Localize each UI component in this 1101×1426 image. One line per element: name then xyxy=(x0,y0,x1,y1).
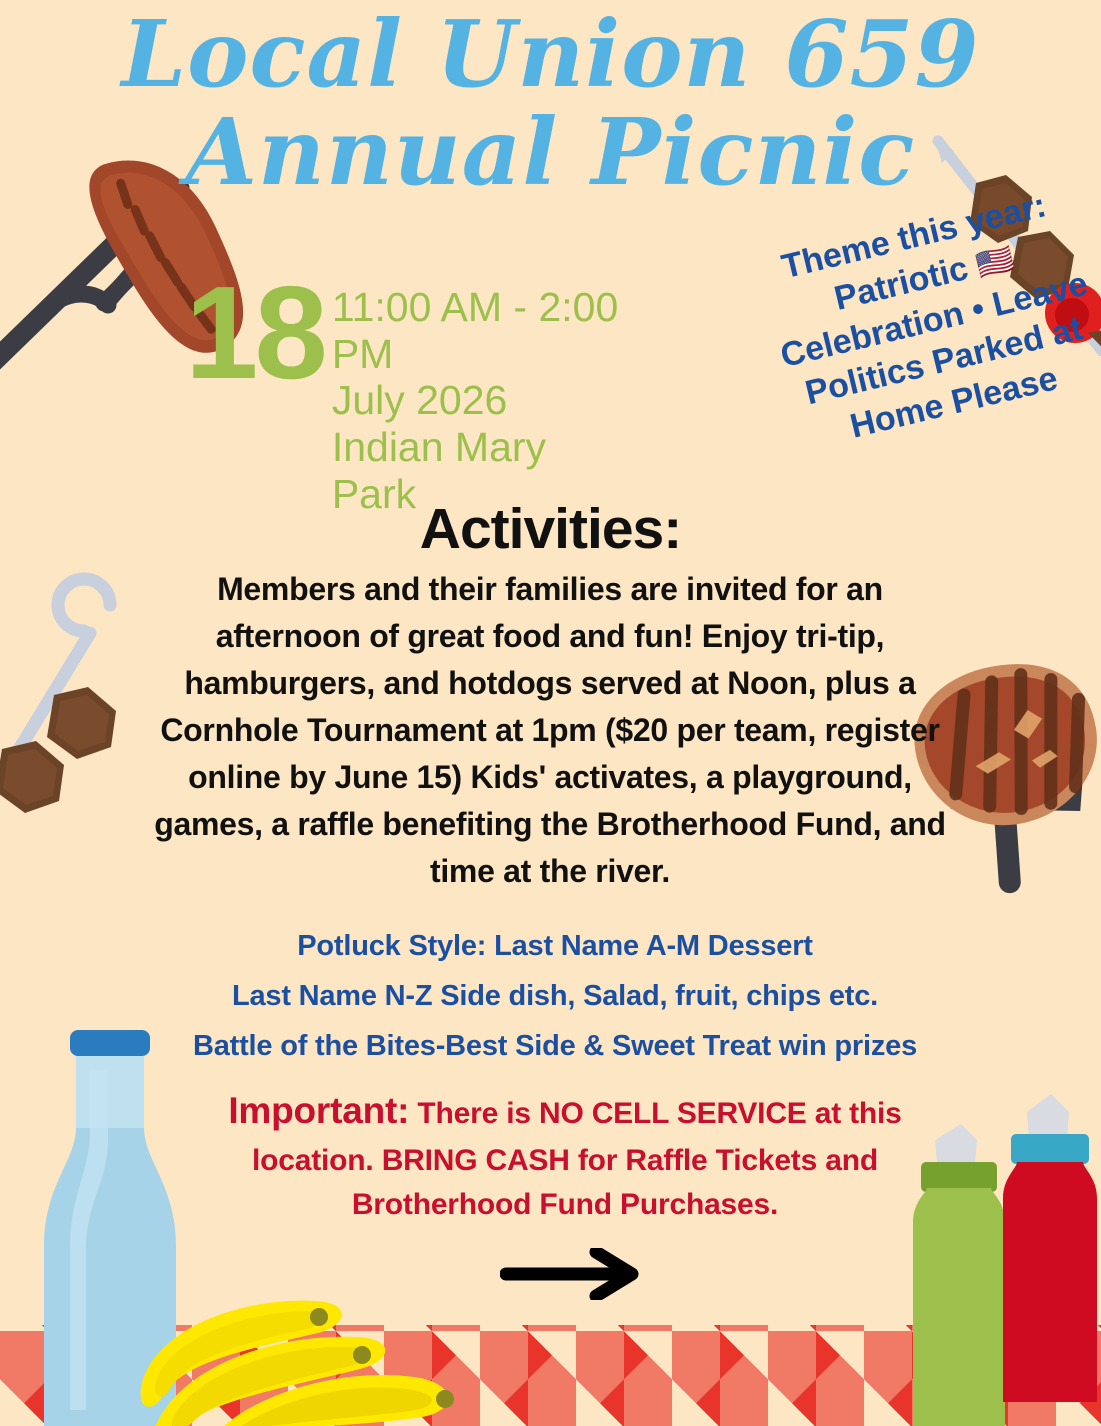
event-details: 11:00 AM - 2:00 PM July 2026 Indian Mary… xyxy=(332,278,622,518)
flyer-title: Local Union 659 Annual Picnic xyxy=(0,8,1101,198)
bunch-of-bananas-icon xyxy=(120,1295,480,1426)
important-notice: Important: There is NO CELL SERVICE at t… xyxy=(170,1084,960,1228)
theme-callout: Theme this year: Patriotic 🇺🇸 Celebratio… xyxy=(700,166,1101,475)
important-label: Important: xyxy=(228,1090,409,1131)
right-arrow-icon xyxy=(500,1248,650,1300)
potluck-instructions: Potluck Style: Last Name A-M Dessert Las… xyxy=(110,922,1000,1072)
red-ketchup-squeeze-bottle-icon xyxy=(995,1092,1101,1426)
title-line-2: Annual Picnic xyxy=(0,106,1101,198)
event-day-number: 18 xyxy=(185,278,324,389)
title-line-1: Local Union 659 xyxy=(121,0,979,108)
potluck-line-3: Battle of the Bites-Best Side & Sweet Tr… xyxy=(110,1022,1000,1072)
potluck-line-1: Potluck Style: Last Name A-M Dessert xyxy=(110,922,1000,972)
activities-body-text: Members and their families are invited f… xyxy=(150,566,950,895)
right-arrow-wrapper xyxy=(500,1248,650,1300)
event-month-year: July 2026 xyxy=(332,377,622,424)
potluck-line-2: Last Name N-Z Side dish, Salad, fruit, c… xyxy=(110,972,1000,1022)
event-venue-line-1: Indian Mary xyxy=(332,424,622,471)
event-date-block: 18 11:00 AM - 2:00 PM July 2026 Indian M… xyxy=(185,278,622,518)
us-flag-icon: 🇺🇸 xyxy=(973,242,1017,283)
event-time: 11:00 AM - 2:00 PM xyxy=(332,284,622,377)
picnic-flyer: Local Union 659 Annual Picnic 18 11:00 A… xyxy=(0,0,1101,1426)
activities-heading: Activities: xyxy=(0,496,1101,562)
